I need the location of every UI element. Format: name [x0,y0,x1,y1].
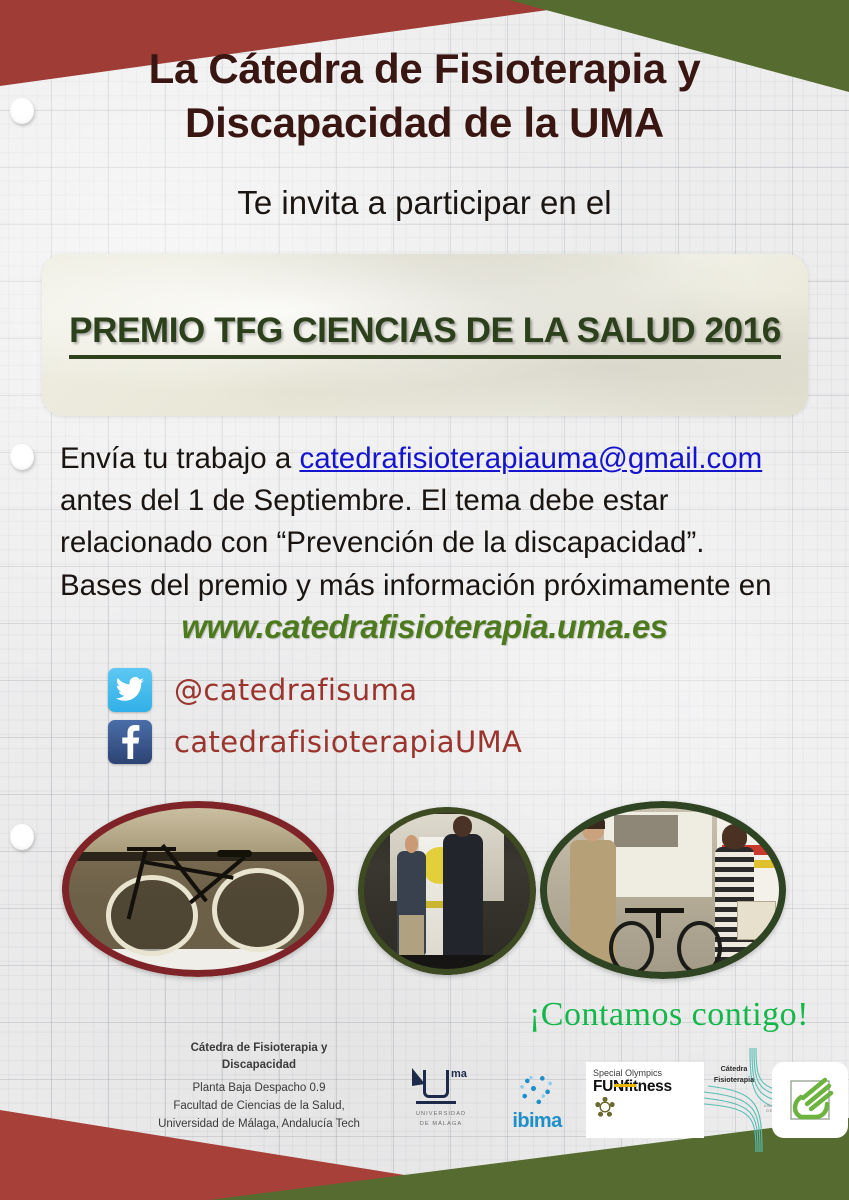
subtitle: Te invita a participar en el [0,183,849,223]
address-line-2: Facultad de Ciencias de la Salud, [173,1100,344,1112]
social-row-facebook[interactable]: catedrafisioterapiaUMA [108,720,522,764]
catedra-logo-label-2: Fisioterapia [714,1075,754,1084]
address-line-1: Planta Baja Despacho 0.9 [193,1082,326,1094]
photo-award-ceremony [358,807,536,975]
address-title-line-1: Cátedra de Fisioterapia y [104,1040,414,1057]
funfitness-main-text: FUNfitness [593,1078,697,1097]
funfitness-logo: Special Olympics FUNfitness [586,1062,704,1138]
facebook-handle[interactable]: catedrafisioterapiaUMA [174,725,522,759]
hand-icon [781,1071,839,1129]
photo-winners-bicycle [540,801,786,979]
sponsor-logos: ma UNIVERSIDAD DE MÁLAGA ibima Special O… [404,1058,834,1158]
twitter-handle[interactable]: @catedrafisuma [174,673,417,707]
body-line-1-prefix: Envía tu trabajo a [60,442,299,475]
uma-logo-caption-2: DE MÁLAGA [404,1120,478,1128]
catedra-logo-label: Cátedra Fisioterapia [706,1064,762,1086]
page-title: La Cátedra de Fisioterapia y Discapacida… [0,42,849,150]
award-banner-title: PREMIO TFG CIENCIAS DE LA SALUD 2016 [69,311,781,359]
ibima-logo-text: ibima [490,1110,584,1133]
green-hand-logo [772,1062,848,1138]
closing-message: ¡Contamos contigo! [529,996,809,1034]
body-line-1: Envía tu trabajo a catedrafisioterapiaum… [60,438,790,480]
body-text: Envía tu trabajo a catedrafisioterapiaum… [60,438,790,607]
catedra-logo-label-1: Cátedra [721,1064,748,1073]
footer-address: Cátedra de Fisioterapia y Discapacidad P… [104,1040,414,1134]
special-olympics-icon [595,1097,615,1117]
poster-root: La Cátedra de Fisioterapia y Discapacida… [0,0,849,1200]
ibima-dot-circle-icon [515,1070,559,1112]
address-title-line-2: Discapacidad [104,1057,414,1074]
twitter-icon [108,668,152,712]
ibima-logo: ibima [490,1070,584,1130]
website-url[interactable]: www.catedrafisioterapia.uma.es [0,608,849,646]
photo-bicycle [62,801,334,977]
award-banner: PREMIO TFG CIENCIAS DE LA SALUD 2016 [42,254,808,416]
uma-logo: ma UNIVERSIDAD DE MÁLAGA [404,1068,478,1130]
social-row-twitter[interactable]: @catedrafisuma [108,668,522,712]
headline-line-1: La Cátedra de Fisioterapia y [0,42,849,96]
body-line-4: Bases del premio y más información próxi… [60,565,790,607]
funfitness-top-text: Special Olympics [593,1068,697,1078]
address-line-3: Universidad de Málaga, Andalucía Tech [158,1118,360,1130]
email-link[interactable]: catedrafisioterapiauma@gmail.com [299,442,762,475]
photo-winners-bicycle-image [540,801,786,979]
body-line-2: antes del 1 de Septiembre. El tema debe … [60,480,790,522]
funfitness-accent-bar [614,1084,635,1088]
photo-award-ceremony-image [358,807,536,975]
body-line-3: relacionado con “Prevención de la discap… [60,522,790,564]
headline-line-2: Discapacidad de la UMA [0,96,849,150]
facebook-icon [108,720,152,764]
photo-bicycle-image [62,801,334,977]
uma-logo-caption-1: UNIVERSIDAD [404,1110,478,1118]
photo-gallery [0,795,849,990]
uma-logo-text: ma [451,1068,467,1080]
social-links: @catedrafisuma catedrafisioterapiaUMA [108,668,522,772]
